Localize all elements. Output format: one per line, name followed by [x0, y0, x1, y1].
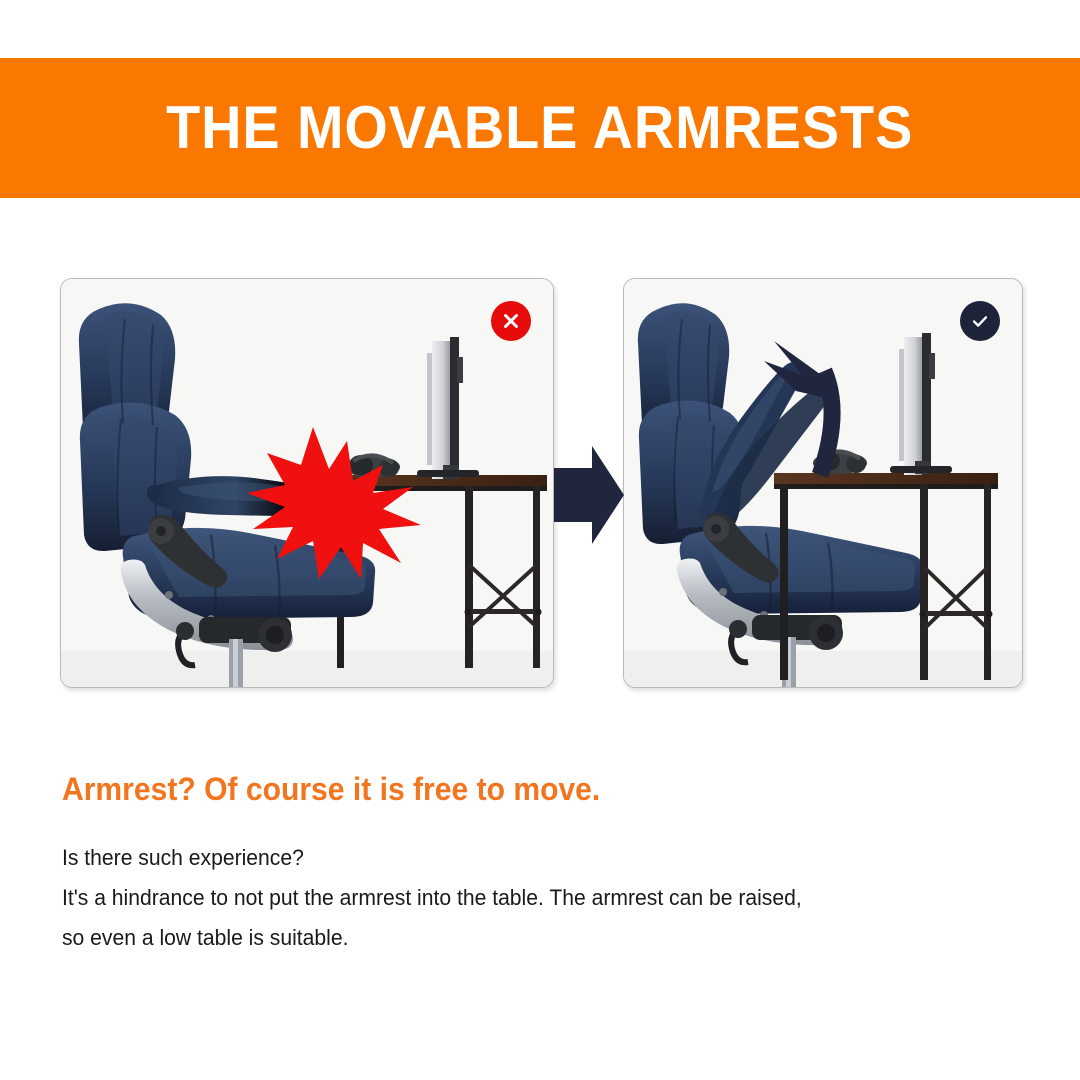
page-title: THE MOVABLE ARMRESTS — [166, 98, 913, 158]
body-line-2: It's a hindrance to not put the armrest … — [62, 878, 984, 918]
description-block: Armrest? Of course it is free to move. I… — [62, 770, 1022, 958]
header-banner: THE MOVABLE ARMRESTS — [0, 58, 1080, 198]
check-icon — [969, 310, 991, 332]
panel-armrest-up — [623, 278, 1023, 688]
section-subheading: Armrest? Of course it is free to move. — [62, 770, 964, 808]
chair-desk-illustration-clear — [624, 279, 1022, 687]
transition-arrow — [552, 440, 626, 550]
scene-clear — [624, 279, 1022, 687]
status-badge-correct — [960, 301, 1000, 341]
chair-desk-illustration-blocked — [61, 279, 553, 687]
body-line-3: so even a low table is suitable. — [62, 918, 984, 958]
panel-armrest-down — [60, 278, 554, 688]
infographic-page: THE MOVABLE ARMRESTS — [0, 0, 1080, 1080]
cross-icon — [500, 310, 522, 332]
comparison-panels — [0, 278, 1080, 688]
right-arrow-icon — [552, 440, 626, 550]
status-badge-incorrect — [491, 301, 531, 341]
scene-blocked — [61, 279, 553, 687]
body-line-1: Is there such experience? — [62, 838, 984, 878]
